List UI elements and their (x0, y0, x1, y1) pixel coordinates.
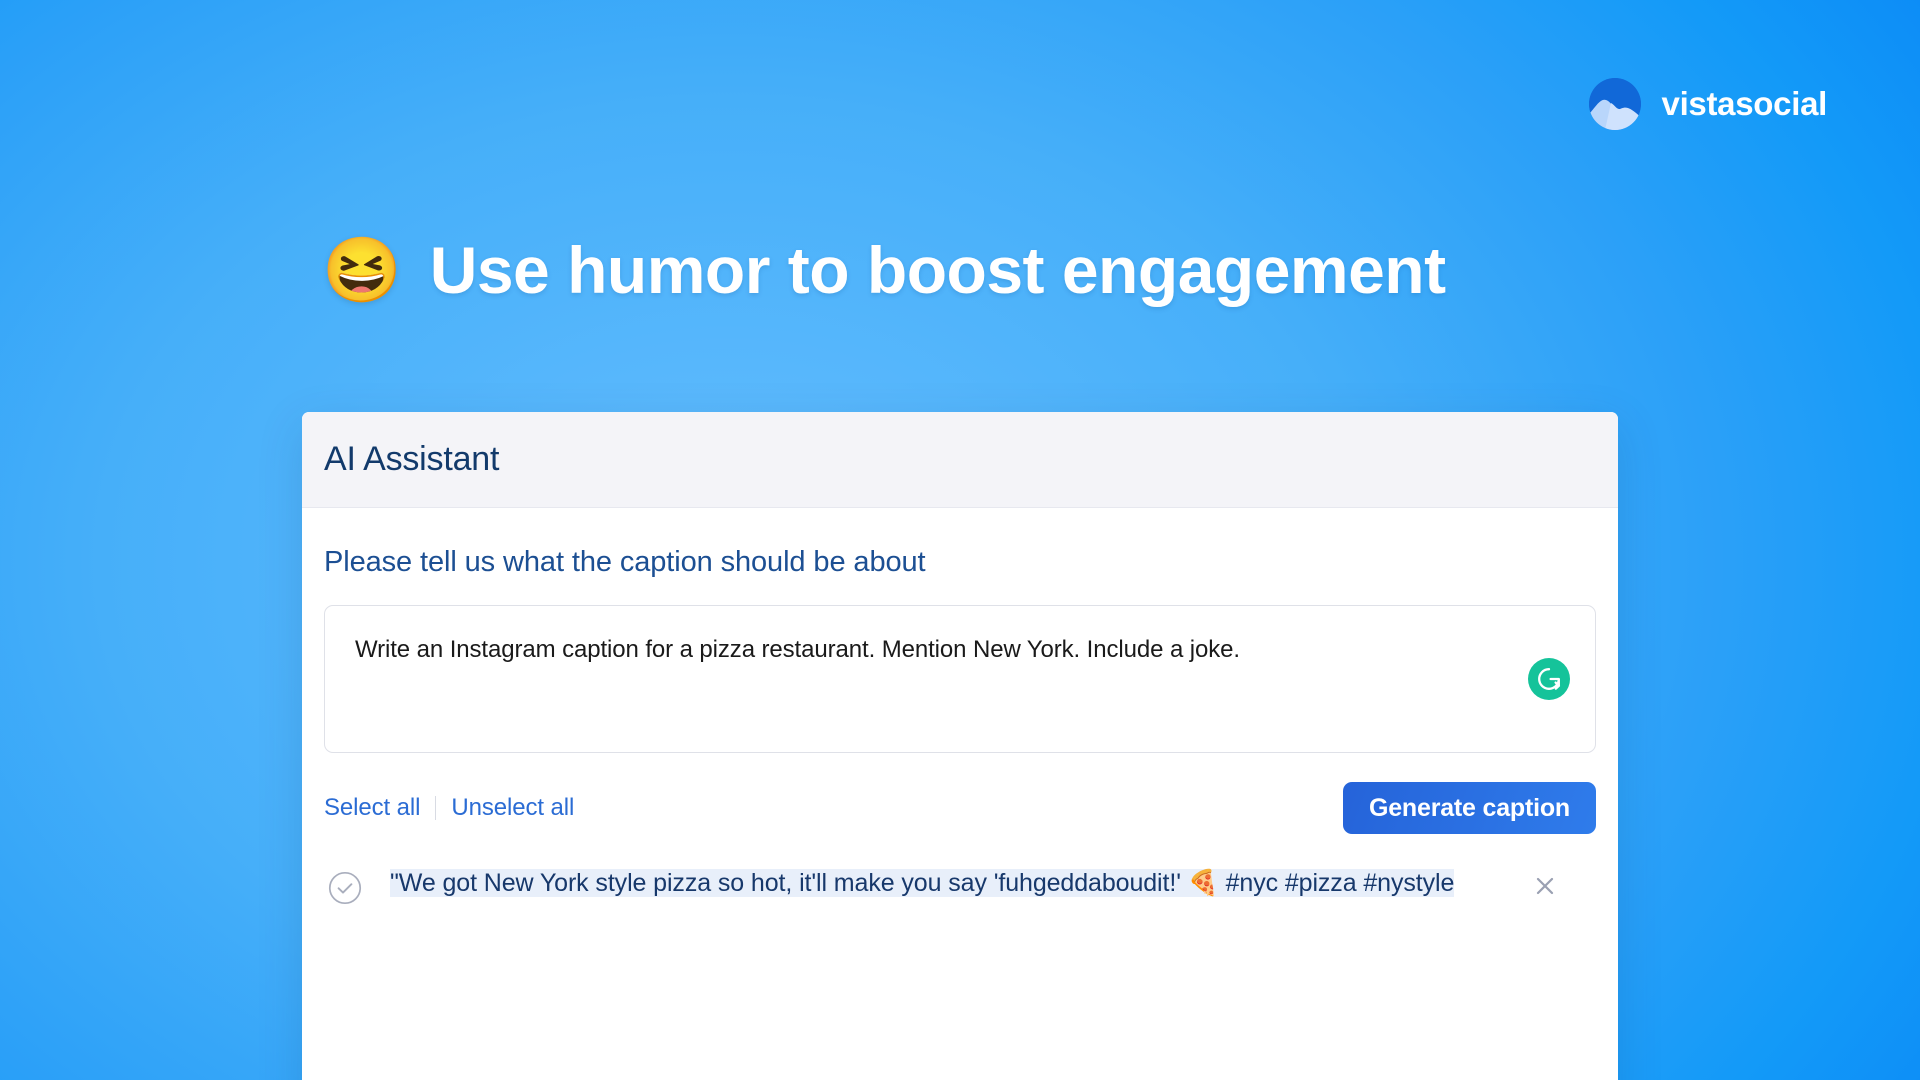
page-title: 😆 Use humor to boost engagement (322, 232, 1446, 308)
brand-name: vistasocial (1662, 85, 1827, 123)
generate-caption-button[interactable]: Generate caption (1343, 782, 1596, 834)
card-body: Please tell us what the caption should b… (302, 508, 1618, 905)
caption-highlight: "We got New York style pizza so hot, it'… (390, 869, 1454, 897)
headline-text: Use humor to boost engagement (430, 232, 1446, 308)
prompt-input-value[interactable]: Write an Instagram caption for a pizza r… (355, 633, 1505, 667)
brand-logo: vistasocial (1589, 78, 1827, 130)
link-divider (435, 796, 436, 820)
action-row: Select all Unselect all Generate caption (324, 779, 1596, 837)
laughing-squinting-face-emoji: 😆 (322, 238, 402, 302)
card-title: AI Assistant (324, 440, 499, 479)
card-header: AI Assistant (302, 412, 1618, 508)
ai-assistant-card: AI Assistant Please tell us what the cap… (302, 412, 1618, 1080)
prompt-input[interactable]: Write an Instagram caption for a pizza r… (324, 605, 1596, 753)
check-circle-icon[interactable] (328, 871, 362, 905)
vistasocial-circle-mountain-logo (1589, 78, 1641, 130)
close-x-icon[interactable] (1528, 869, 1562, 903)
unselect-all-link[interactable]: Unselect all (451, 794, 574, 822)
caption-result-row: "We got New York style pizza so hot, it'… (324, 867, 1596, 905)
prompt-label: Please tell us what the caption should b… (324, 546, 1596, 579)
grammarly-g-icon[interactable] (1528, 658, 1570, 700)
caption-result-text[interactable]: "We got New York style pizza so hot, it'… (390, 867, 1518, 899)
select-all-link[interactable]: Select all (324, 794, 420, 822)
caption-result-text-wrap: "We got New York style pizza so hot, it'… (362, 867, 1528, 899)
page-background: vistasocial 😆 Use humor to boost engagem… (0, 0, 1920, 1080)
